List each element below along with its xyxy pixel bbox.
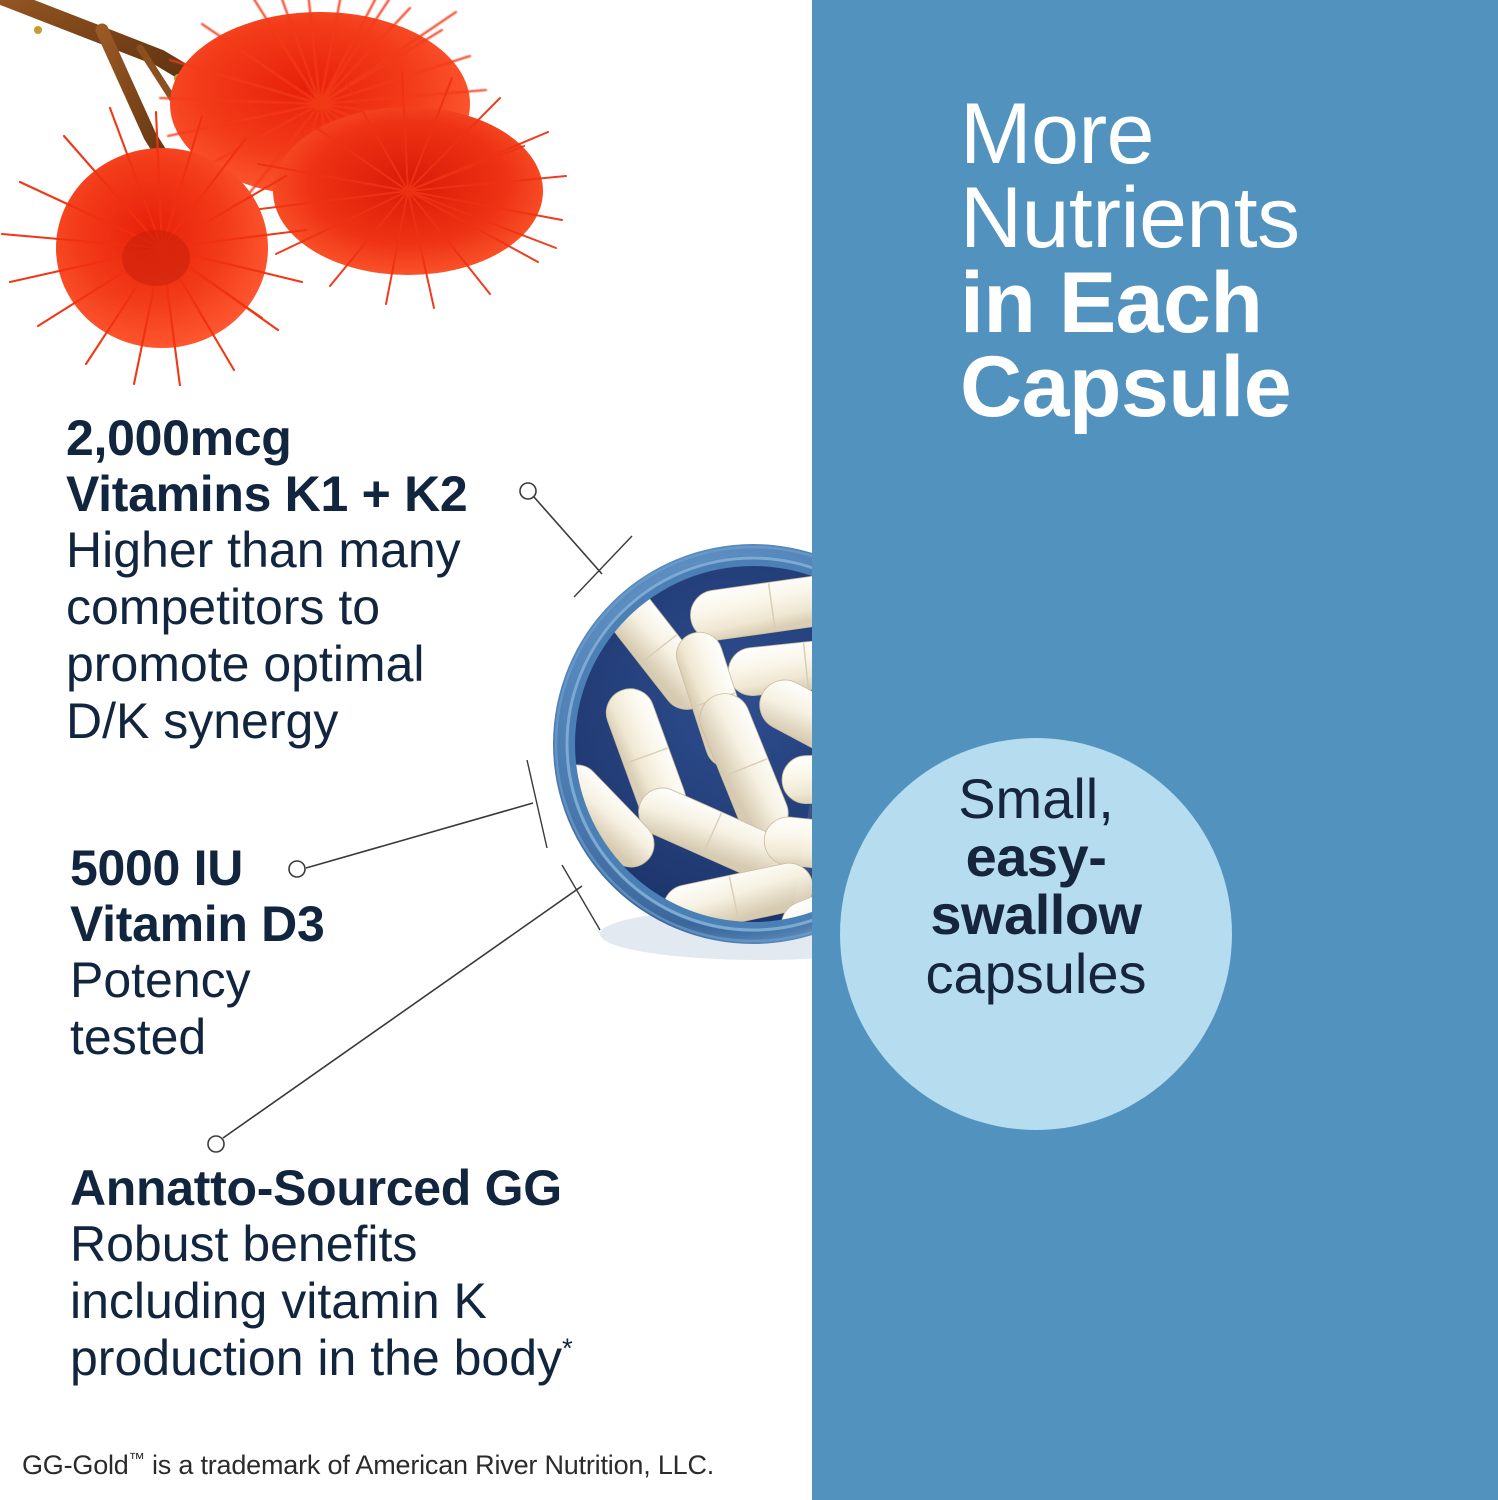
callout-line-4: capsules: [840, 945, 1232, 1003]
callout-line-1: Small,: [840, 770, 1232, 828]
annatto-seed-pods-image: [0, 0, 570, 386]
trademark-footnote: GG-Gold™ is a trademark of American Rive…: [22, 1450, 714, 1481]
feature-vitamins-k: 2,000mcg Vitamins K1 + K2 Higher than ma…: [66, 410, 536, 750]
infographic-canvas: 2,000mcg Vitamins K1 + K2 Higher than ma…: [0, 0, 1498, 1500]
feature-vitamin-d3: 5000 IU Vitamin D3 Potency tested: [70, 840, 490, 1066]
feature-annatto-gg-body: Robust benefits including vitamin K prod…: [70, 1216, 690, 1387]
headline-line-3: in Each: [960, 261, 1498, 345]
headline-line-2: Nutrients: [960, 176, 1498, 260]
feature-annatto-gg-body-text: Robust benefits including vitamin K prod…: [70, 1216, 562, 1386]
feature-annatto-gg-heading: Annatto-Sourced GG: [70, 1160, 690, 1216]
feature-annatto-gg: Annatto-Sourced GG Robust benefits inclu…: [70, 1160, 690, 1387]
callout-line-2: easy-: [840, 828, 1232, 886]
leader-dot-annatto-gg: [208, 1136, 224, 1152]
headline-line-4: Capsule: [960, 345, 1498, 429]
footnote-asterisk: *: [562, 1332, 573, 1363]
footer-brand: GG-Gold: [22, 1450, 129, 1480]
page-title: More Nutrients in Each Capsule: [960, 92, 1498, 429]
easy-swallow-callout: Small, easy- swallow capsules: [840, 770, 1232, 1003]
feature-vitamin-d3-body: Potency tested: [70, 952, 490, 1066]
feature-vitamin-d3-heading: 5000 IU Vitamin D3: [70, 840, 490, 952]
trademark-symbol: ™: [129, 1450, 145, 1468]
feature-vitamins-k-body: Higher than many competitors to promote …: [66, 522, 536, 750]
callout-line-3: swallow: [840, 886, 1232, 944]
footer-text: is a trademark of American River Nutriti…: [145, 1450, 714, 1480]
headline-line-1: More: [960, 92, 1498, 176]
feature-vitamins-k-heading: 2,000mcg Vitamins K1 + K2: [66, 410, 536, 522]
